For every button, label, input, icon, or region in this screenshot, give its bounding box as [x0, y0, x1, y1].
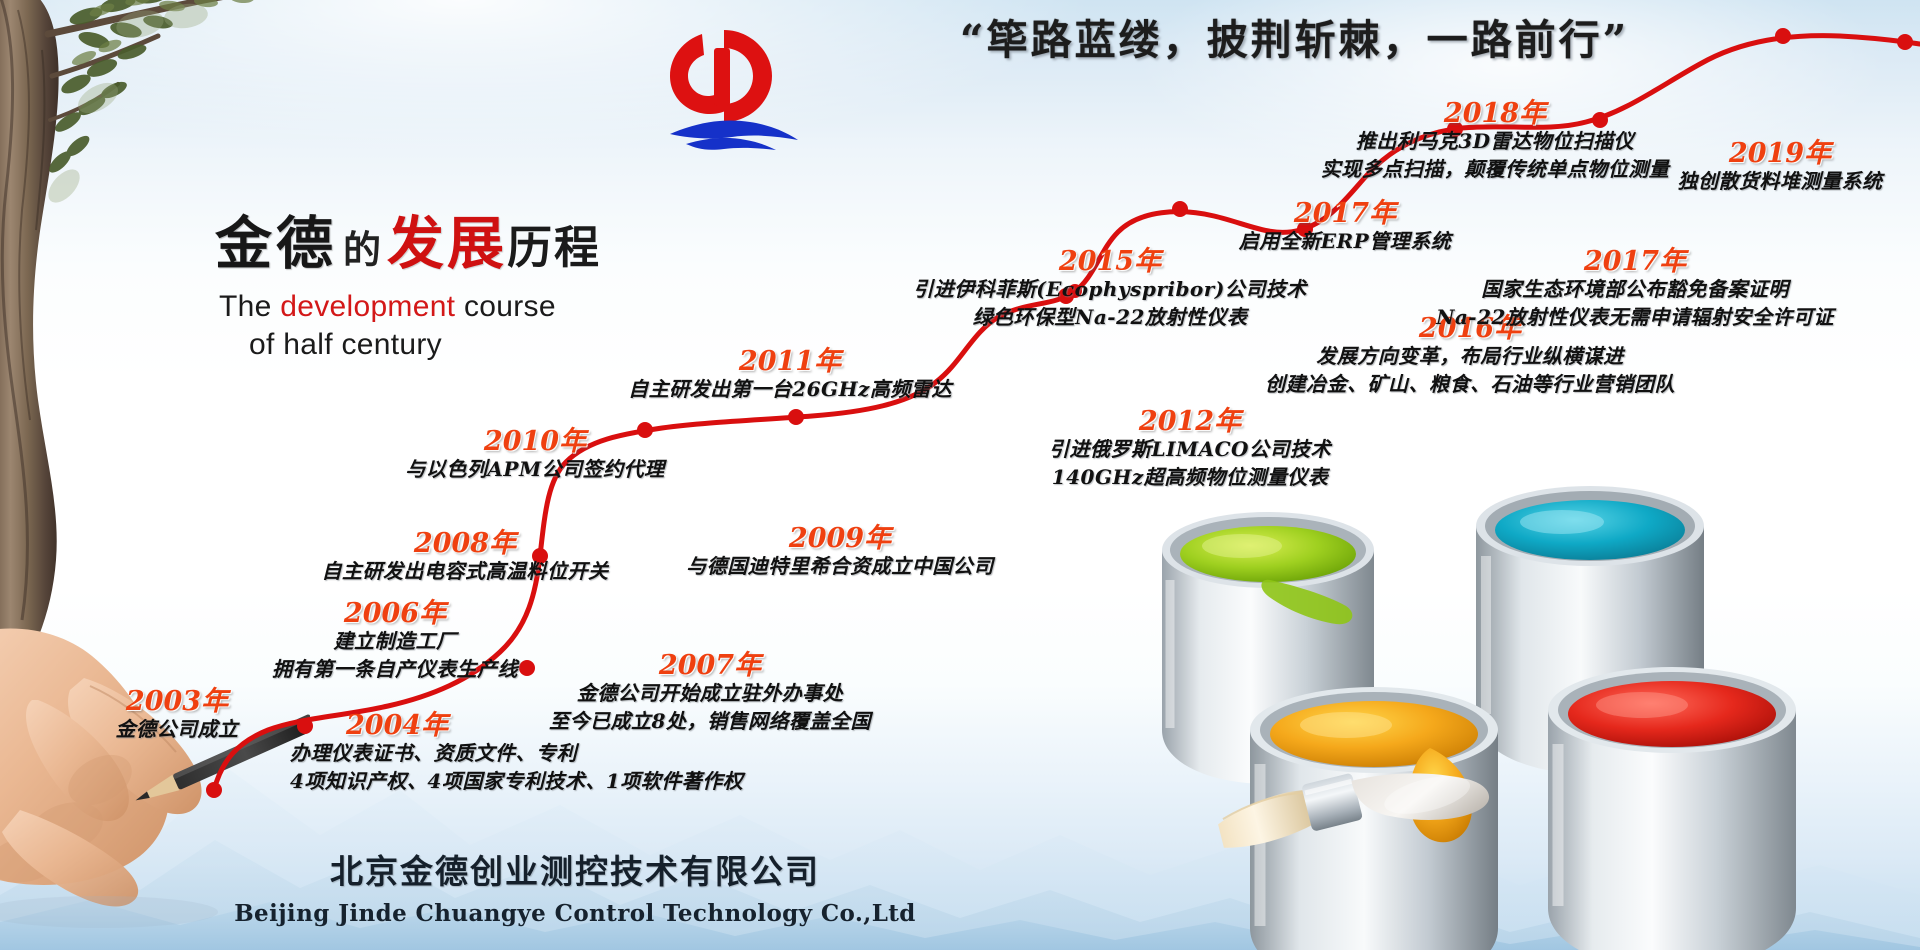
company-name-en: Beijing Jinde Chuangye Control Technolog…: [0, 900, 1150, 927]
milestone-line: 引进伊科菲斯(Ecophyspribor)公司技术: [910, 276, 1310, 303]
milestone-2011: 2011年 自主研发出第一台26GHz高频雷达: [610, 348, 970, 404]
milestone-2012: 2012年 引进俄罗斯LIMACO公司技术 140GHz超高频物位测量仪表: [1010, 408, 1370, 491]
title-tail: 历程: [507, 221, 601, 274]
milestone-line: 办理仪表证书、资质文件、专利: [290, 740, 790, 767]
milestone-line: 至今已成立8处，销售网络覆盖全国: [510, 708, 910, 735]
title-en-post: course: [455, 290, 555, 323]
milestone-year: 2011年: [610, 348, 970, 376]
milestone-line: 4项知识产权、4项国家专利技术、1项软件著作权: [290, 768, 790, 795]
company-name-cn: 北京金德创业测控技术有限公司: [0, 845, 1150, 893]
milestone-year: 2012年: [1010, 408, 1370, 436]
milestone-year: 2010年: [370, 428, 700, 456]
milestone-2003: 2003年 金德公司成立: [52, 688, 302, 744]
milestone-year: 2006年: [255, 600, 535, 628]
milestone-2010: 2010年 与以色列APM公司签约代理: [370, 428, 700, 484]
milestone-line: 建立制造工厂: [255, 628, 535, 655]
milestone-line: 140GHz超高频物位测量仪表: [1010, 464, 1370, 491]
poster-slogan: “筚路蓝缕，披荆斩棘，一路前行”: [960, 6, 1780, 66]
milestone-year: 2007年: [510, 652, 910, 680]
milestone-year: 2019年: [1630, 140, 1920, 168]
milestone-line: 与以色列APM公司签约代理: [370, 456, 700, 483]
milestone-line: 创建冶金、矿山、粮食、石油等行业营销团队: [1245, 371, 1695, 398]
milestone-year: 2008年: [275, 530, 655, 558]
milestone-line: Na-22放射性仪表无需申请辐射安全许可证: [1400, 304, 1870, 331]
milestone-line: 金德公司成立: [52, 716, 302, 743]
company-logo: [640, 22, 810, 157]
paint-cans-decoration: [1100, 430, 1920, 950]
milestone-line: 国家生态环境部公布豁免备案证明: [1400, 276, 1870, 303]
milestone-line: 发展方向变革，布局行业纵横谋进: [1245, 343, 1695, 370]
milestone-year: 2017年: [1400, 248, 1870, 276]
milestone-2017-na22: 2017年 国家生态环境部公布豁免备案证明 Na-22放射性仪表无需申请辐射安全…: [1400, 248, 1870, 331]
milestone-2019: 2019年 独创散货料堆测量系统: [1630, 140, 1920, 196]
milestone-2007: 2007年 金德公司开始成立驻外办事处 至今已成立8处，销售网络覆盖全国: [510, 652, 910, 735]
milestone-line: 引进俄罗斯LIMACO公司技术: [1010, 436, 1370, 463]
poster-canvas: “筚路蓝缕，披荆斩棘，一路前行” 金德的发展历程 The development…: [0, 0, 1920, 950]
footer-company: 北京金德创业测控技术有限公司 Beijing Jinde Chuangye Co…: [0, 845, 1150, 927]
milestone-year: 2003年: [52, 688, 302, 716]
title-brand: 金德: [215, 210, 337, 277]
milestone-line: 金德公司开始成立驻外办事处: [510, 680, 910, 707]
title-cn: 金德的发展历程: [215, 215, 685, 272]
milestone-2006: 2006年 建立制造工厂 拥有第一条自产仪表生产线: [255, 600, 535, 683]
milestone-line: 与德国迪特里希合资成立中国公司: [640, 553, 1040, 580]
milestone-2009: 2009年 与德国迪特里希合资成立中国公司: [640, 525, 1040, 581]
title-en-highlight: development: [280, 290, 455, 323]
milestone-line: 自主研发出第一台26GHz高频雷达: [610, 376, 970, 403]
milestone-line: 拥有第一条自产仪表生产线: [255, 656, 535, 683]
title-block: 金德的发展历程 The development course of half c…: [215, 215, 685, 363]
title-highlight: 发展: [387, 210, 507, 277]
milestone-line: 自主研发出电容式高温料位开关: [275, 558, 655, 585]
milestone-year: 2009年: [640, 525, 1040, 553]
title-particle: 的: [337, 227, 387, 272]
milestone-year: 2018年: [1250, 100, 1740, 128]
title-en-pre: The: [219, 290, 280, 323]
milestone-year: 2017年: [1180, 200, 1510, 228]
milestone-line: 独创散货料堆测量系统: [1630, 168, 1920, 195]
milestone-2008: 2008年 自主研发出电容式高温料位开关: [275, 530, 655, 586]
